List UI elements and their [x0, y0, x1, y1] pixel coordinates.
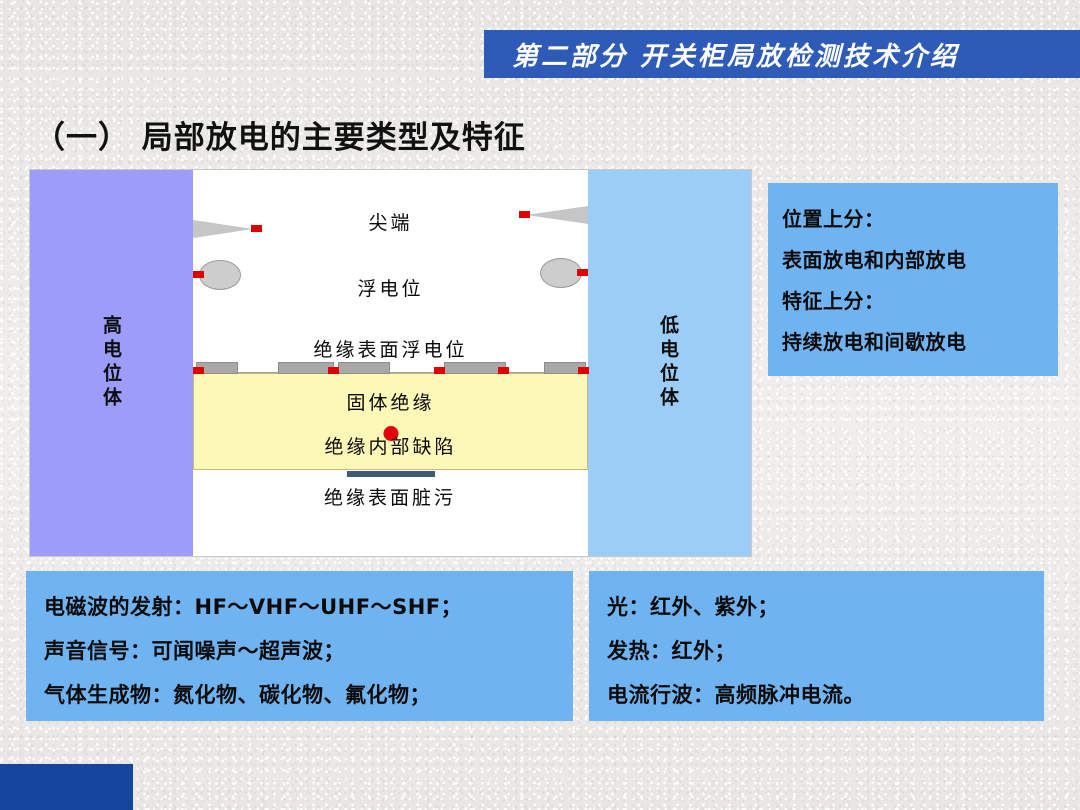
header-banner-title: 第二部分 开关柜局放检测技术介绍	[512, 36, 959, 73]
label-solid-insulation: 固体绝缘	[346, 388, 434, 415]
other-effects-line-2: 发热：红外；	[607, 629, 1044, 673]
discharge-marker-pad-5	[578, 367, 589, 374]
solid-dielectric-slab: 固体绝缘 绝缘内部缺陷	[193, 373, 588, 470]
electrode-pad-2	[278, 362, 334, 374]
corona-tip-left-icon	[193, 220, 253, 238]
other-effects-line-1: 光：红外、紫外；	[607, 585, 1044, 629]
label-internal-defect: 绝缘内部缺陷	[324, 432, 456, 459]
discharge-marker-tip-left	[251, 225, 262, 232]
signal-types-panel: 电磁波的发射：HF～VHF～UHF～SHF； 声音信号：可闻噪声～超声波； 气体…	[26, 571, 573, 721]
signal-types-line-3: 气体生成物：氮化物、碳化物、氟化物；	[44, 673, 573, 717]
signal-types-line-1: 电磁波的发射：HF～VHF～UHF～SHF；	[44, 585, 573, 629]
discharge-marker-pad-3	[434, 367, 445, 374]
other-effects-line-3: 电流行波：高频脉冲电流。	[607, 673, 1044, 717]
classification-line-1: 位置上分：	[782, 199, 1058, 240]
slide-canvas: 第二部分 开关柜局放检测技术介绍 （一） 局部放电的主要类型及特征 高电位体 低…	[0, 0, 1080, 810]
high-potential-electrode: 高电位体	[30, 170, 193, 556]
label-tip: 尖端	[368, 208, 412, 235]
discharge-marker-pad-4	[498, 367, 509, 374]
discharge-marker-tip-right	[519, 211, 530, 218]
surface-contamination-bar	[347, 471, 435, 477]
corona-tip-right-icon	[526, 206, 588, 224]
electrode-pad-4	[444, 362, 506, 374]
classification-line-2: 表面放电和内部放电	[782, 240, 1058, 281]
signal-types-line-2: 声音信号：可闻噪声～超声波；	[44, 629, 573, 673]
page-title: （一） 局部放电的主要类型及特征	[34, 112, 526, 157]
low-potential-electrode: 低电位体	[586, 170, 751, 556]
floating-body-right-icon	[540, 258, 582, 288]
classification-line-3: 特征上分：	[782, 281, 1058, 322]
partial-discharge-diagram: 高电位体 低电位体 尖端 浮电位 绝缘表面浮电位 固体绝缘	[29, 169, 752, 557]
discharge-marker-float-left	[193, 271, 204, 278]
high-potential-electrode-label: 高电位体	[98, 315, 125, 411]
discharge-marker-pad-1	[193, 367, 204, 374]
discharge-marker-float-right	[577, 269, 588, 276]
label-surface-contamination: 绝缘表面脏污	[324, 483, 456, 510]
other-effects-panel: 光：红外、紫外； 发热：红外； 电流行波：高频脉冲电流。	[589, 571, 1044, 721]
electrode-pad-3	[338, 362, 390, 374]
classification-line-4: 持续放电和间歇放电	[782, 322, 1058, 363]
floating-body-left-icon	[199, 260, 241, 290]
discharge-marker-pad-2	[328, 367, 339, 374]
classification-panel: 位置上分： 表面放电和内部放电 特征上分： 持续放电和间歇放电	[768, 183, 1058, 376]
footer-accent-block	[0, 764, 133, 810]
label-floating-potential: 浮电位	[357, 274, 423, 301]
header-banner: 第二部分 开关柜局放检测技术介绍	[484, 30, 1080, 78]
low-potential-electrode-label: 低电位体	[655, 315, 682, 411]
label-surface-floating-potential: 绝缘表面浮电位	[313, 335, 467, 362]
